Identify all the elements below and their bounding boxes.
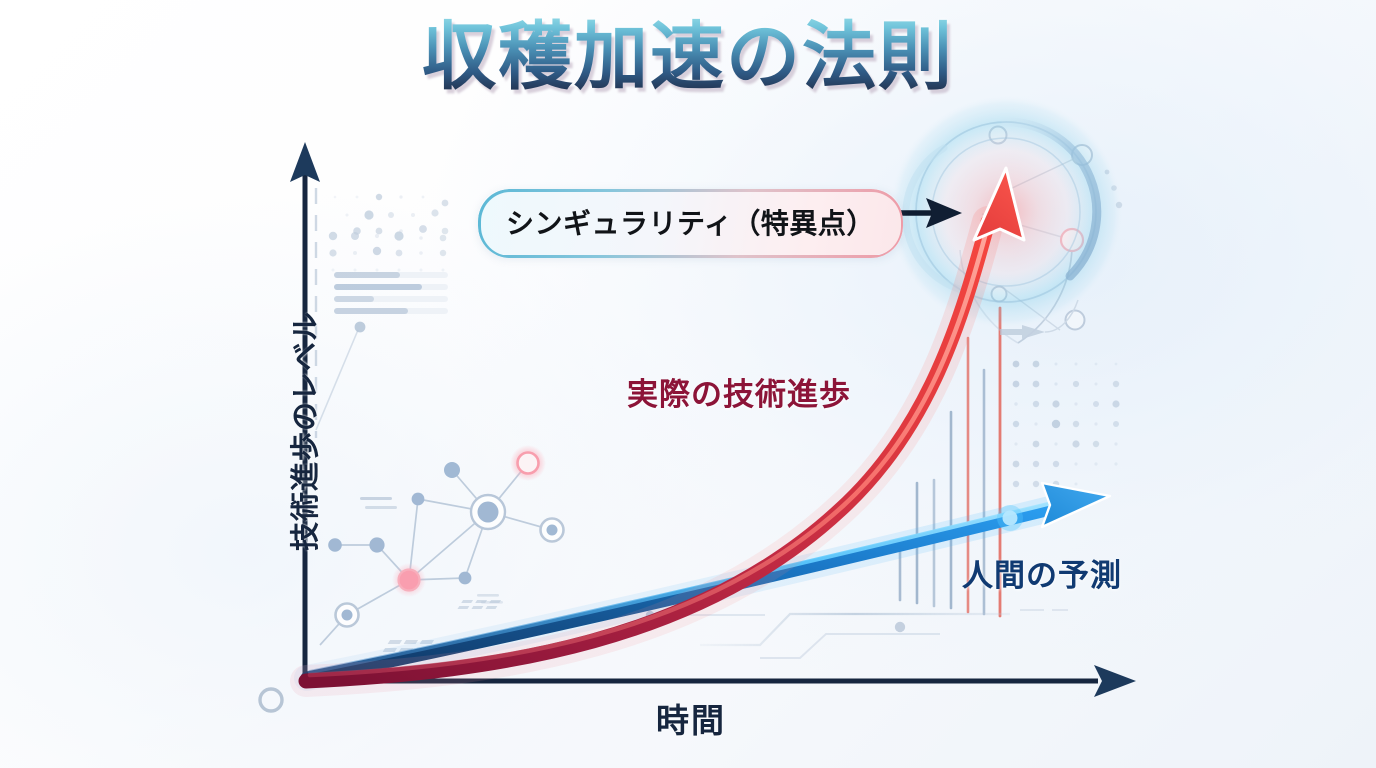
y-axis-label: 技術進歩のレベル bbox=[282, 271, 324, 591]
singularity-callout-label: シンギュラリティ（特異点） bbox=[506, 208, 875, 239]
red-arrow-head-icon bbox=[974, 168, 1024, 240]
actual-progress-label: 実際の技術進歩 bbox=[627, 369, 851, 414]
x-axis-label: 時間 bbox=[596, 694, 786, 742]
blue-arrow-head-icon bbox=[1042, 483, 1110, 527]
page-title: 収穫加速の法則 bbox=[0, 16, 1376, 99]
human-prediction-label: 人間の予測 bbox=[962, 550, 1122, 595]
singularity-callout[interactable]: シンギュラリティ（特異点） bbox=[478, 189, 903, 257]
infographic-canvas: 収穫加速の法則 シンギュラリティ（特異点） 実際の技術進歩 人間の予測 時間 技… bbox=[0, 0, 1376, 768]
